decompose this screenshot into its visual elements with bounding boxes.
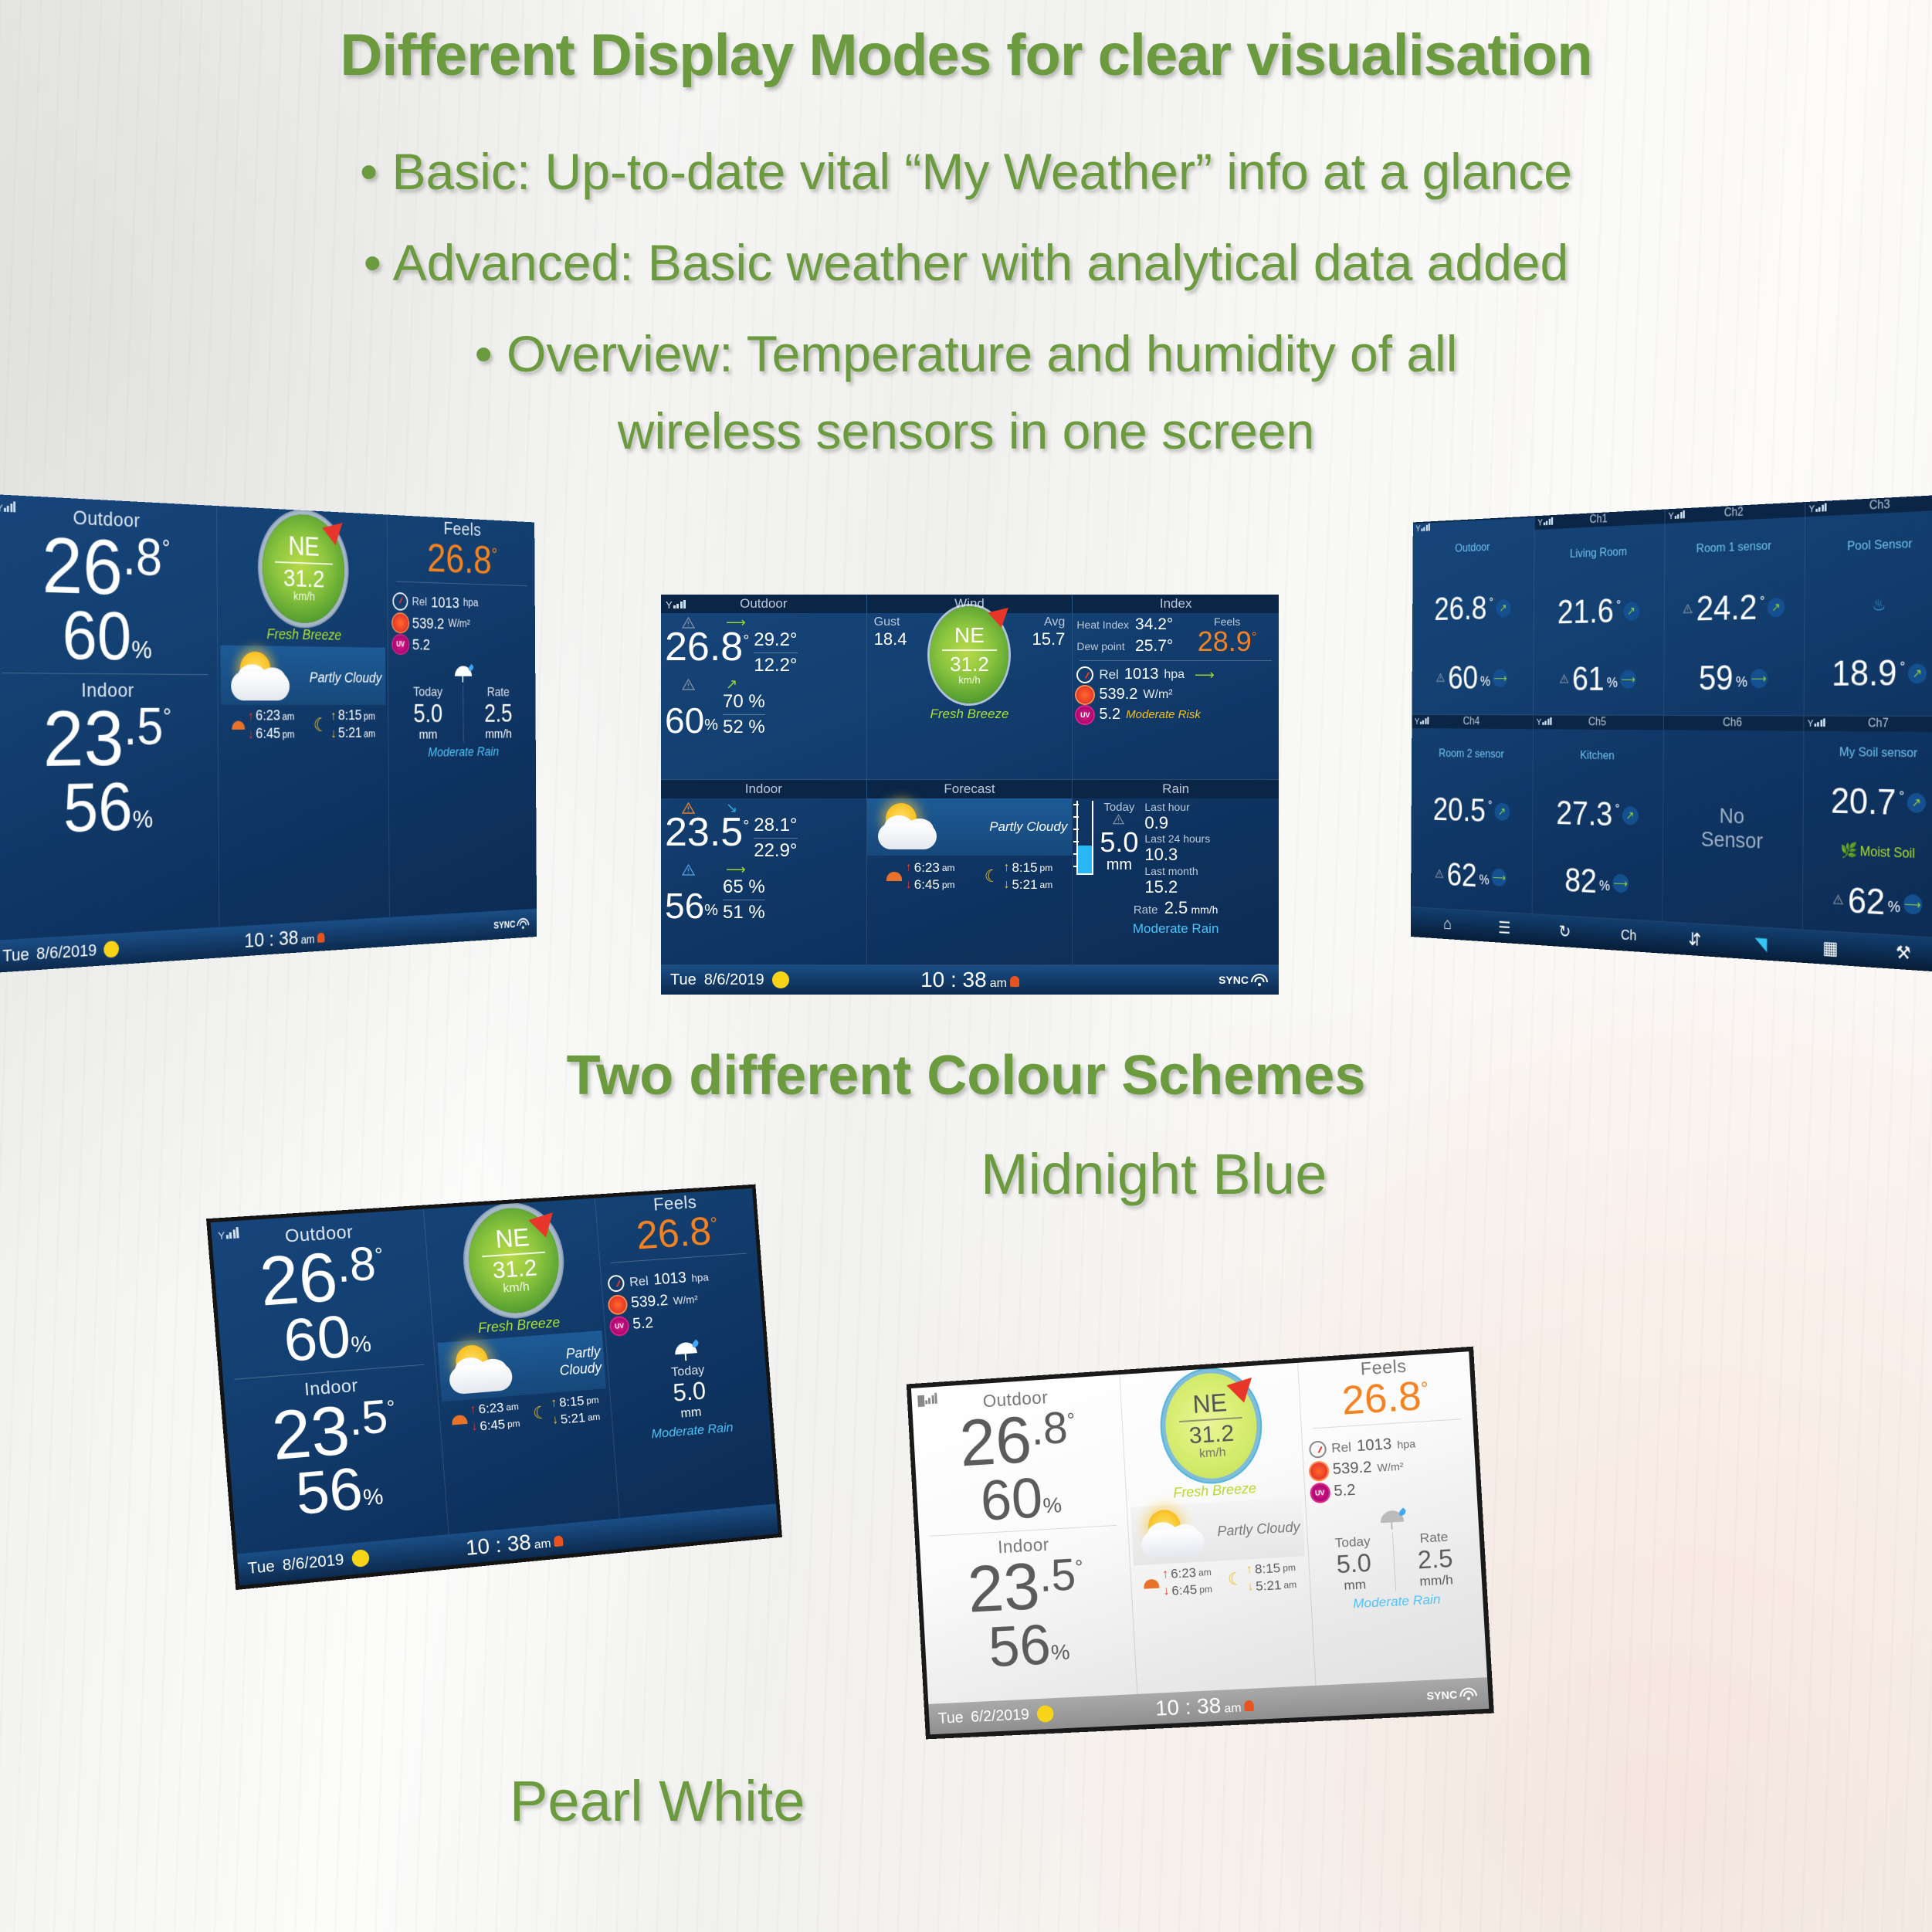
channel-label: Ch2 [1724,506,1744,519]
basic-screen: Y Outdoor 26 .8 ° 60 % Indoor 23 .5 ° [0,494,537,973]
wifi-icon [1459,1687,1477,1700]
outdoor-temp-max: 29.2° [754,629,797,651]
indoor-temp-min: 22.9° [754,840,797,862]
pearl-white-label: Pearl White [510,1768,805,1834]
rain-last-24-value: 10.3 [1144,845,1275,864]
channel-label: Ch5 [1588,716,1606,728]
moonset-ampm: am [1283,1579,1297,1591]
temp-trend-arrow-icon: ↗ [1623,602,1639,620]
outdoor-humidity: 60 % [0,602,217,670]
advanced-wind-body: Gust18.4 Avg15.7 NE 31.2 km/h Fresh Bree… [867,613,1073,779]
hum-value: 60 [1448,663,1478,693]
sensor-humidity: 62%⟶ [1413,858,1530,894]
clock-ampm: am [1224,1702,1242,1717]
alarm-icon [554,1535,564,1547]
rain-today-unit: mm [1314,1575,1395,1595]
sensor-humidity: 62%⟶ [1805,882,1932,924]
advanced-status-bar: Tue 8/6/2019 10 : 38 am SYNC [661,965,1279,995]
feels-temperature: 26.8° [388,537,535,582]
plant-icon: 🌿 [1840,842,1856,859]
bullet-overview-2: wireless sensors in one screen [0,402,1932,460]
overview-cell-ch1[interactable]: YCh1Living Room21.6°↗61%⟶ [1534,509,1666,715]
sensor-name: Living Room [1537,544,1662,563]
baro-label: Rel [1099,667,1119,683]
rain-today-unit: mm [392,727,463,743]
barometer-row: Rel 1013 hpa [392,592,530,614]
indoor-temp-dec: .5 [1038,1554,1076,1598]
indoor-hum-value: 56 [987,1618,1052,1675]
rain-today-label: Today [392,685,463,700]
records-icon[interactable]: ☰ [1498,917,1510,938]
alarm-icon [1010,976,1019,987]
soil-moisture-label: Moist Soil [1860,844,1915,862]
panel-title-outdoor: Y Outdoor [661,595,866,613]
overview-cell-ch5[interactable]: YCh5Kitchen27.3°↗82%⟶ [1532,715,1663,922]
moon-icon: ☾ [532,1404,548,1422]
outdoor-temp-int: 26 [42,528,123,605]
barometer-icon [392,592,408,611]
indoor-temp-dec: .5 [124,702,164,751]
signal-icon: Y [666,597,686,612]
rain-today: Today 5.0 mm [1312,1533,1395,1595]
moon-icon: ☾ [1227,1571,1243,1588]
day-label: Tue [2,944,29,966]
indoor-temp-int: 23 [966,1555,1041,1622]
rain-today-unit: mm [1100,856,1138,874]
graph-icon[interactable]: ◥ [1754,933,1767,955]
moon-phase-icon [772,971,789,988]
temp-trend-arrow-icon: ↗ [1907,793,1926,813]
signal-icon: Y [0,499,15,516]
solar-unit: W/m² [448,618,469,631]
baro-label: Rel [1331,1439,1352,1456]
indoor-temp-dec: .5 [347,1394,389,1442]
outdoor-temp-dec: .8 [334,1241,377,1288]
uv-row: UV 5.2 [393,636,531,656]
moon-icon: ☾ [985,868,1000,885]
divider [396,581,527,587]
mb-rain-block: Today 5.0 mm Moderate Rain [606,1330,771,1446]
umbrella-icon [453,665,473,683]
clock: 10 : 38 am [920,968,1019,992]
solar-value: 539.2 [1099,686,1137,703]
temp-value: 21.6 [1557,595,1614,629]
overview-cell-ch6[interactable]: Ch6NoSensor [1663,716,1804,930]
wind-speed: 31.2 [1188,1422,1235,1449]
outdoor-hum-max: 70 % [723,691,765,713]
bullet-overview: • Overview: Temperature and humidity of … [0,324,1932,383]
barometer-icon [607,1274,625,1292]
sun-icon [451,1415,467,1425]
uv-value: 5.2 [412,636,430,654]
degree-symbol: ° [1420,1378,1429,1400]
alarm-icon [1244,1700,1254,1712]
day-label: Tue [670,971,697,989]
device-advanced-mode[interactable]: Y Outdoor ⟶ 26.8 ° 29.2° 12.2° [661,595,1279,995]
sunset-ampm: pm [283,728,295,740]
rain-rate: Rate 2.5 mm/h [463,685,533,742]
date-label: 8/6/2019 [282,1551,344,1574]
heat-index-label: Heat Index [1076,619,1129,631]
wind-dial: NE 31.2 km/h [930,606,1008,703]
clock-time: 10 : 38 [465,1530,532,1561]
wind-direction-arrow-icon [323,514,350,545]
solar-unit: W/m² [673,1293,698,1307]
wind-direction: NE [1192,1390,1228,1417]
rain-alert-icon [1113,814,1126,825]
moonrise-ampm: pm [1283,1562,1296,1574]
overview-cell-ch7[interactable]: YCh7My Soil sensor20.7°↗🌿Moist Soil62%⟶ [1803,716,1932,939]
pw-wind-forecast-column: NE 31.2 km/h Fresh Breeze Partly Cloudy [1119,1363,1316,1694]
forecast-description: Partly Cloudy [1214,1519,1300,1540]
degree-symbol: ° [1489,595,1493,611]
baro-label: Rel [629,1273,649,1290]
indoor-hum-value: 56 [294,1461,365,1524]
degree-symbol: ° [743,632,749,650]
rain-rate-label: Rate [463,685,532,700]
sunset-time: 6:45 [914,877,940,893]
wind-speed: 31.2 [492,1256,538,1283]
outdoor-hum-min: 52 % [723,717,765,738]
overview-cell-channel: YCh7 [1804,716,1932,732]
feels-value: 26.8 [635,1209,713,1258]
baro-unit: hpa [463,597,479,609]
hum-trend-arrow-icon: ⟶ [1620,670,1636,689]
outdoor-hum-value: 60 [979,1471,1044,1528]
wind-dial: NE 31.2 km/h [1163,1371,1259,1481]
temp-trend-arrow-icon: ↗ [1768,598,1785,617]
sunset-time: 6:45 [256,726,280,743]
baro-value: 1013 [431,593,459,612]
device-overview-mode[interactable]: YOutdoor26.8°↗60%⟶YCh1Living Room21.6°↗6… [1411,494,1932,973]
uv-value: 5.2 [1099,706,1120,724]
uv-icon: UV [1311,1483,1329,1501]
solar-value: 539.2 [412,614,445,632]
temp-value: 26.8 [1434,593,1486,625]
pool-sensor-icon: ♨ [1808,596,1932,613]
device-midnight-blue[interactable]: Y Outdoor 26 .8 ° 60 % Indoor 23 .5 ° [206,1185,782,1590]
temp-trend-arrow-icon: ↗ [1622,806,1639,825]
indoor-temp-max: 28.1° [754,815,797,836]
partly-cloudy-icon [1134,1506,1213,1562]
gust-value: 18.4 [874,629,907,649]
calendar-icon[interactable]: ▦ [1822,937,1838,959]
rain-last-month-label: Last month [1144,865,1275,877]
dew-point-value: 25.7° [1135,637,1173,656]
sync-indicator: SYNC [1219,974,1268,986]
sensor-humidity: 59%⟶ [1666,661,1801,695]
refresh-icon[interactable]: ↻ [1559,921,1571,942]
degree-symbol: ° [492,544,498,564]
moonset-ampm: am [1040,880,1053,890]
uv-risk-label: Moderate Risk [1126,709,1201,721]
sun-moon-times: ↑6:23am ↓6:45pm ☾ ↑8:15pm ↓5:21am [218,705,388,746]
forecast-description: Partly Cloudy [520,1344,602,1381]
alarm-icon [317,932,325,942]
overview-cell-body: My Soil sensor20.7°↗🌿Moist Soil62%⟶ [1803,731,1932,938]
sensor-temperature: 26.8°↗ [1415,591,1531,625]
outdoor-temp-dec: .8 [1030,1406,1069,1451]
solar-icon [1310,1462,1327,1480]
uv-value: 5.2 [632,1314,654,1334]
rain-rate-unit: mm/h [1191,903,1218,916]
wind-dial: NE 31.2 km/h [465,1205,562,1316]
overview-screen: YOutdoor26.8°↗60%⟶YCh1Living Room21.6°↗6… [1411,494,1932,973]
date-label: 6/2/2019 [971,1706,1030,1726]
percent-symbol: % [1042,1496,1063,1517]
wind-speed-unit: km/h [503,1280,530,1296]
sunrise-ampm: am [942,863,955,873]
clock-ampm: am [990,977,1007,991]
rain-today-value: 5.0 [1313,1548,1395,1580]
percent-symbol: % [1736,674,1747,691]
solar-icon [1076,686,1093,703]
channel-label: Ch4 [1463,716,1480,727]
advanced-rain-body: Today 5.0 mm Last hour 0.9 Last 24 hours… [1073,798,1279,964]
temp-alert-icon [1683,604,1693,615]
date-label: 8/6/2019 [704,971,764,989]
clock-ampm: am [301,934,315,947]
hum-trend-arrow-icon: ↗ [726,677,737,691]
hum-value: 62 [1848,884,1886,920]
day-label: Tue [247,1557,276,1578]
hum-value: 82 [1564,865,1597,898]
advanced-outdoor-body: ⟶ 26.8 ° 29.2° 12.2° ↗ [661,613,866,779]
clock: 10 : 38 am [1154,1692,1254,1721]
home-icon[interactable]: ⌂ [1443,914,1452,934]
indoor-temp: 23.5 [665,815,743,852]
sun-icon [886,872,902,881]
mb-index-list: Rel 1013 hpa 539.2 W/m² UV 5.2 [601,1258,763,1343]
wind-direction-arrow-icon [1227,1369,1261,1403]
hum-value: 62 [1447,859,1477,892]
overview-cell-channel: YCh4 [1412,715,1533,729]
sensor-humidity: 82%⟶ [1535,863,1660,901]
moonset-time: 5:21 [1256,1578,1282,1595]
baro-label: Rel [412,595,427,608]
page-title: Different Display Modes for clear visual… [0,22,1932,89]
channel-icon[interactable]: Ch [1621,927,1637,944]
indoor-hum-value: 56 [63,776,133,842]
rain-today-label: Today [1100,801,1138,814]
partly-cloudy-icon [224,649,298,705]
solar-unit: W/m² [1377,1459,1404,1473]
sunrise-ampm: am [506,1401,519,1412]
outdoor-hum-value: 60 [62,604,131,669]
clock-time: 10 : 38 [920,968,987,992]
maxmin-icon[interactable]: ⇵ [1688,929,1701,951]
solar-icon [608,1296,626,1313]
sunset-time: 6:45 [480,1417,506,1435]
moon-phase-icon [351,1549,370,1568]
sensor-name: My Soil sensor [1807,744,1932,761]
temp-value: 20.7 [1831,784,1896,820]
rain-rate-value: 2.5 [1394,1544,1476,1575]
sunrise-time: 6:23 [478,1400,504,1418]
hum-alert-icon [682,864,695,876]
sensor-name: Kitchen [1536,748,1661,764]
wind-dial: NE 31.2 km/h [263,513,345,624]
avg-value: 15.7 [1032,629,1066,649]
forecast-description: Partly Cloudy [949,819,1068,835]
pw-feels-rain-column: Feels 26.8° Rel 1013 hpa 539.2 W/m² [1298,1351,1487,1686]
sync-indicator: SYNC [1426,1687,1477,1702]
baro-unit: hpa [1397,1437,1416,1451]
percent-symbol: % [704,717,718,734]
sync-label: SYNC [1426,1688,1458,1702]
degree-symbol: ° [1488,798,1493,814]
sunrise-time: 6:23 [914,860,940,876]
feels-value: 26.8 [1341,1374,1422,1424]
indoor-humidity: 56 % [924,1613,1135,1677]
sensor-name: Outdoor [1415,538,1531,557]
uv-icon: UV [393,636,408,654]
date-label: 8/6/2019 [36,941,97,964]
device-pearl-white[interactable]: Y Outdoor 26 .8 ° 60 % Indoor 23 .5 ° [907,1347,1494,1740]
indoor-hum-min: 51 % [723,902,765,924]
sensor-temperature: 18.9°↗ [1807,656,1932,691]
moonset-time: 5:21 [1012,877,1037,893]
feels-value: 28.9 [1198,625,1252,657]
overview-cell-channel: YCh5 [1534,715,1663,730]
rain-last-24-label: Last 24 hours [1144,832,1275,845]
clock-ampm: am [534,1537,551,1553]
sensor-temperature: 24.2°↗ [1667,590,1802,626]
rain-rate-value: 2.5 [464,700,533,727]
temp-trend-arrow-icon: ↗ [1908,664,1927,684]
basic-index-list: Rel 1013 hpa 539.2 W/m² UV 5.2 [388,586,535,662]
sunrise-ampm: am [1198,1567,1212,1578]
solar-icon [393,614,408,632]
sunrise-ampm: am [282,710,294,722]
rain-rate-value: 2.5 [1164,898,1188,917]
sync-label: SYNC [1219,974,1249,986]
sensor-name: Room 2 sensor [1414,747,1530,762]
temp-trend-arrow-icon: ↗ [1494,802,1510,821]
device-basic-mode[interactable]: Y Outdoor 26 .8 ° 60 % Indoor 23 .5 ° [0,494,537,973]
moonrise-ampm: pm [1040,863,1053,873]
percent-symbol: % [1888,898,1900,916]
outdoor-hum: 60 [665,704,704,738]
rain-rate-unit: mm/h [464,727,533,742]
day-label: Tue [937,1709,964,1727]
colour-schemes-title: Two different Colour Schemes [0,1044,1932,1107]
sunset-ampm: pm [507,1418,520,1429]
settings-icon[interactable]: ⚒ [1896,941,1911,964]
moon-phase-icon [103,941,119,958]
mb-feels-rain-column: Feels 26.8° Rel 1013 hpa 539.2 W/m² [595,1188,776,1518]
panel-title-forecast: Forecast [867,780,1073,798]
temp-alert-icon [682,617,695,629]
rain-description: Moderate Rain [1076,921,1275,937]
umbrella-icon [1378,1508,1406,1530]
overview-cell-ch2[interactable]: YCh2Room 1 sensor24.2°↗59%⟶ [1664,502,1805,716]
sun-moon-times: ↑6:23am ↓6:45pm ☾ ↑8:15pm ↓5:21am [867,856,1073,896]
percent-symbol: % [351,1334,372,1357]
moonrise-time: 8:15 [558,1393,585,1410]
wind-description: Fresh Breeze [218,625,388,645]
solar-unit: W/m² [1143,688,1172,702]
indoor-temperature: 23 .5 ° [0,702,218,778]
wifi-icon [1251,974,1268,986]
uv-icon: UV [611,1317,629,1334]
bullet-advanced: • Advanced: Basic weather with analytica… [0,233,1932,292]
sun-icon [232,721,245,730]
sunset-ampm: pm [1199,1584,1212,1595]
degree-symbol: ° [375,1246,384,1266]
gust-label: Gust [874,615,900,629]
indoor-temp-int: 23 [42,702,124,778]
degree-symbol: ° [1760,594,1765,610]
sync-label: SYNC [493,919,515,931]
pw-index-list: Rel 1013 hpa 539.2 W/m² UV 5.2 [1302,1423,1477,1509]
wind-description: Fresh Breeze [871,707,1069,722]
percent-symbol: % [1607,675,1618,691]
pearl-white-screen: Y Outdoor 26 .8 ° 60 % Indoor 23 .5 ° [907,1347,1494,1740]
rain-today: Today 5.0 mm [613,1357,765,1426]
baro-unit: hpa [1164,668,1185,682]
uv-row: UV 5.2 Moderate Risk [1076,706,1275,724]
sunrise-time: 6:23 [256,708,280,725]
degree-symbol: ° [1066,1411,1076,1430]
clock-time: 10 : 38 [244,926,298,952]
overview-cell-ch4[interactable]: YCh4Room 2 sensor20.5°↗62%⟶ [1411,715,1534,914]
sensor-temperature: 20.7°↗ [1806,784,1932,822]
wifi-icon [517,918,529,930]
partly-cloudy-icon [872,802,946,852]
overview-cell-body: Living Room21.6°↗61%⟶ [1534,524,1665,715]
wind-direction: NE [954,625,985,646]
hum-trend-arrow-icon: ⟶ [1750,669,1767,688]
signal-icon: Y [917,1391,937,1408]
solar-value: 539.2 [1332,1459,1372,1479]
avg-label: Avg [1044,615,1065,629]
bullet-basic: • Basic: Up-to-date vital “My Weather” i… [0,142,1932,201]
wind-speed-unit: km/h [958,674,980,686]
overview-cell-ch3[interactable]: YCh3Pool Sensor♨18.9°↗ [1804,494,1932,717]
overview-cell-outdoor[interactable]: YOutdoor26.8°↗60%⟶ [1412,516,1534,715]
sunset-time: 6:45 [1171,1582,1198,1599]
advanced-indoor-panel: Indoor ↘ 23.5 ° 28.1° 22.9° [661,780,867,965]
outdoor-temperature: 26 .8 ° [0,526,217,608]
avg-block: Avg15.7 [1032,615,1066,649]
overview-cell-body: Outdoor26.8°↗60%⟶ [1412,517,1534,714]
solar-row: 539.2 W/m² [1076,686,1275,703]
advanced-wind-panel: Wind Gust18.4 Avg15.7 NE 31.2 km/h Fresh… [867,595,1073,780]
moonset-ampm: am [587,1412,600,1423]
degree-symbol: ° [386,1398,395,1418]
signal-icon: Y [217,1225,239,1243]
sun-icon [1144,1579,1159,1589]
outdoor-temp-min: 12.2° [754,655,797,676]
gust-block: Gust18.4 [874,615,907,649]
channel-label: Ch3 [1869,498,1890,512]
midnight-blue-screen: Y Outdoor 26 .8 ° 60 % Indoor 23 .5 ° [206,1185,782,1590]
hum-trend-arrow-icon: ⟶ [726,863,746,876]
wind-direction-arrow-icon [529,1204,562,1238]
mb-wind-forecast-column: NE 31.2 km/h Fresh Breeze Partly Cloudy [423,1198,620,1534]
feels-value: 26.8 [427,535,492,582]
rain-last-hour-label: Last hour [1144,801,1275,813]
percent-symbol: % [133,808,154,832]
panel-title-index: Index [1073,595,1279,613]
basic-feels-rain-column: Feels 26.8° Rel 1013 hpa 539.2 W/m² [388,515,537,917]
sync-indicator: SYNC [493,918,529,931]
baro-value: 1013 [1124,666,1159,683]
indoor-humidity: 56 % [0,774,219,845]
mb-outdoor-indoor-column: Y Outdoor 26 .8 ° 60 % Indoor 23 .5 ° [211,1209,449,1554]
umbrella-icon [673,1340,700,1361]
